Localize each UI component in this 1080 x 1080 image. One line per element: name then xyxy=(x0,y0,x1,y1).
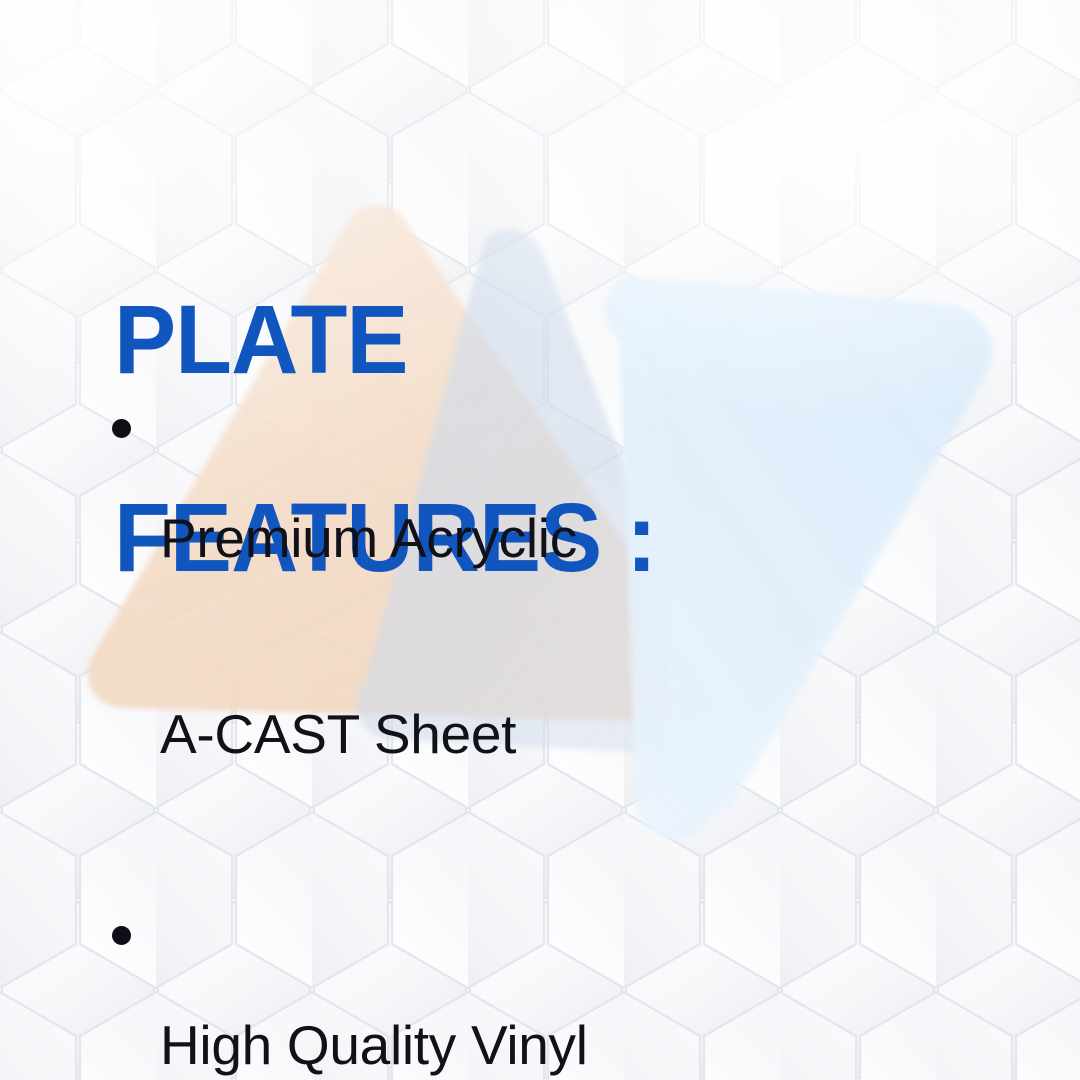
feature-list: Premium Acryclic A-CAST Sheet High Quali… xyxy=(104,392,1024,1080)
feature-text: Premium Acryclic A-CAST Sheet xyxy=(160,392,1024,881)
feature-line-1: High Quality Vinyl xyxy=(160,997,1024,1080)
poster-content: PLATE FEATURES : Premium Acryclic A-CAST… xyxy=(0,0,1080,1080)
feature-line-2: A-CAST Sheet xyxy=(160,686,1024,784)
feature-line-1: Premium Acryclic xyxy=(160,490,1024,588)
bullet-dot-icon xyxy=(112,926,131,945)
page-title-line-1: PLATE xyxy=(114,292,978,387)
bullet-dot-icon xyxy=(112,419,131,438)
plate-features-poster: PLATE FEATURES : Premium Acryclic A-CAST… xyxy=(0,0,1080,1080)
list-item: Premium Acryclic A-CAST Sheet xyxy=(104,392,1024,881)
feature-text: High Quality Vinyl Radium Sticker Used xyxy=(160,899,1024,1080)
list-item: High Quality Vinyl Radium Sticker Used xyxy=(104,899,1024,1080)
